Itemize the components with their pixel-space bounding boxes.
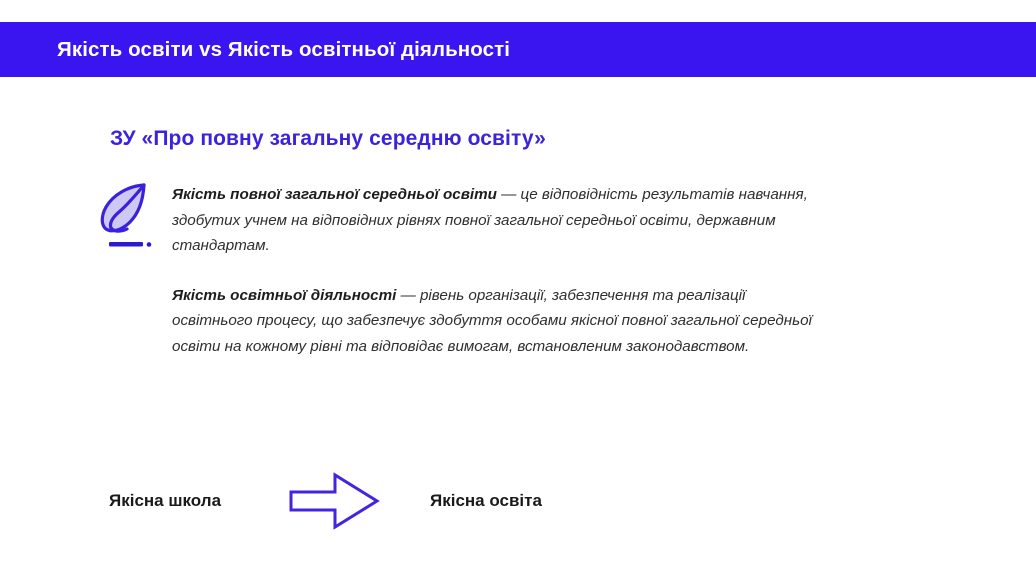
comparison-right-label: Якісна освіта: [430, 470, 542, 532]
comparison-left-label: Якісна школа: [109, 470, 221, 532]
definition-term: Якість повної загальної середньої освіти: [172, 186, 497, 203]
slide-header-band: Якість освіти vs Якість освітньої діяльн…: [0, 22, 1036, 77]
arrow-right-icon: [288, 471, 380, 531]
arrow-right-glyph: [288, 471, 380, 531]
definition-dash: —: [396, 287, 420, 304]
feather-quill-icon: [99, 179, 157, 257]
slide-title: Якість освіти vs Якість освітньої діяльн…: [57, 38, 510, 62]
definition-term: Якість освітньої діяльності: [172, 287, 396, 304]
definition-dash: —: [497, 186, 521, 203]
definition-item: Якість освітньої діяльності — рівень орг…: [172, 283, 817, 360]
definition-item: Якість повної загальної середньої освіти…: [172, 182, 817, 259]
comparison-row: Якісна школа Якісна освіта: [0, 470, 1036, 532]
feather-quill-glyph: [99, 179, 157, 257]
law-heading: ЗУ «Про повну загальну середню освіту»: [110, 127, 546, 151]
slide-canvas: Якість освіти vs Якість освітньої діяльн…: [0, 0, 1036, 572]
definitions-block: Якість повної загальної середньої освіти…: [172, 182, 817, 359]
